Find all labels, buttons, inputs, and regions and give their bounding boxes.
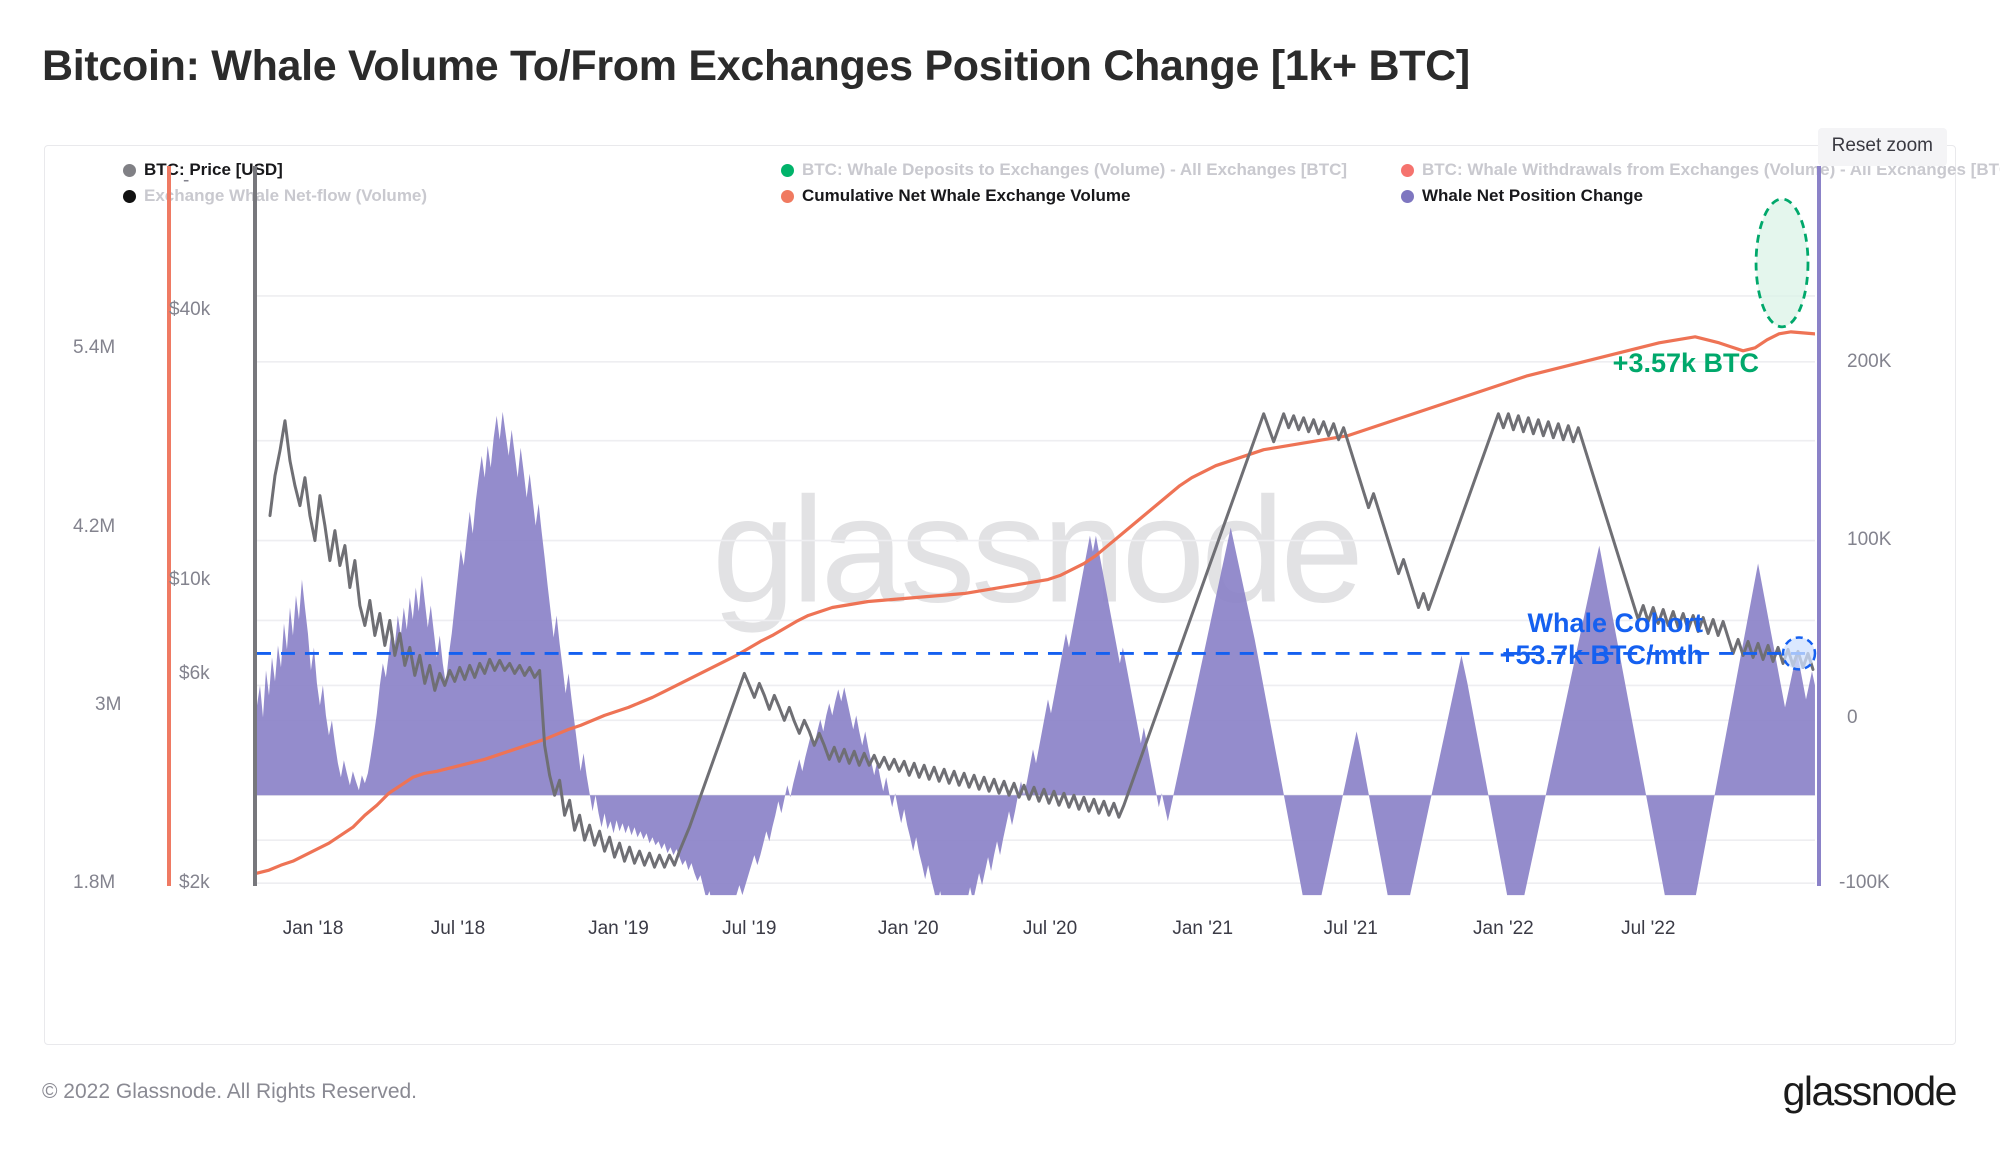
page-title: Bitcoin: Whale Volume To/From Exchanges …: [42, 42, 1470, 91]
reset-zoom-button[interactable]: Reset zoom: [1818, 128, 1947, 166]
y-tick-price-dash: -: [183, 170, 189, 192]
y-tick-price-10000: $10k: [169, 569, 210, 591]
y-tick-cumulative-4200000: 4.2M: [73, 516, 115, 538]
x-tick-jul-21: Jul '21: [1324, 918, 1378, 940]
legend-item-net-position-change[interactable]: Whale Net Position Change: [1401, 186, 1643, 206]
y-axis-btc-price: - $40k $10k $6k $2k: [165, 216, 257, 884]
chart-card: BTC: Price [USD] Exchange Whale Net-flow…: [44, 145, 1956, 1045]
y-tick-price-2000: $2k: [179, 872, 210, 894]
x-tick-jan-19: Jan '19: [588, 918, 649, 940]
y-tick-net-100000: 100K: [1847, 529, 1891, 551]
chart-legend: BTC: Price [USD] Exchange Whale Net-flow…: [45, 160, 1955, 210]
x-tick-jul-19: Jul '19: [722, 918, 776, 940]
legend-item-whale-deposits[interactable]: BTC: Whale Deposits to Exchanges (Volume…: [781, 160, 1347, 180]
x-axis-dates: Jan '18 Jul '18 Jan '19 Jul '19 Jan '20 …: [257, 918, 1815, 948]
x-tick-jul-20: Jul '20: [1023, 918, 1077, 940]
annotation-whale-cohort-line1: Whale Cohort: [1500, 608, 1703, 640]
x-tick-jan-18: Jan '18: [283, 918, 344, 940]
annotation-whale-cohort: Whale Cohort +53.7k BTC/mth: [1500, 608, 1703, 672]
legend-item-btc-price[interactable]: BTC: Price [USD]: [123, 160, 283, 180]
series-whale-net-position-change: [257, 412, 1815, 973]
legend-label-netposition: Whale Net Position Change: [1422, 186, 1643, 206]
whale-cohort-endpoint-marker: [1783, 637, 1815, 669]
y-tick-net--100000: -100K: [1839, 872, 1890, 894]
y-tick-cumulative-5400000: 5.4M: [73, 337, 115, 359]
y-tick-net-0: 0: [1847, 707, 1858, 729]
legend-color-dot-cumulative: [781, 190, 794, 203]
y-tick-cumulative-3000000: 3M: [95, 694, 121, 716]
y-tick-price-6000: $6k: [179, 663, 210, 685]
x-tick-jan-22: Jan '22: [1473, 918, 1534, 940]
x-tick-jan-21: Jan '21: [1172, 918, 1233, 940]
annotation-whale-cohort-line2: +53.7k BTC/mth: [1500, 640, 1703, 672]
whale-deposit-highlight-ellipse: [1756, 199, 1808, 327]
x-tick-jul-22: Jul '22: [1621, 918, 1675, 940]
y-axis-net-position-change: 200K 100K 0 -100K: [1815, 216, 1955, 884]
y-tick-net-200000: 200K: [1847, 351, 1891, 373]
legend-color-dot-deposits: [781, 164, 794, 177]
annotation-whale-deposit-line1: +3.57k BTC: [1613, 348, 1759, 380]
legend-item-cumulative-net[interactable]: Cumulative Net Whale Exchange Volume: [781, 186, 1130, 206]
x-tick-jul-18: Jul '18: [431, 918, 485, 940]
legend-label-deposits: BTC: Whale Deposits to Exchanges (Volume…: [802, 160, 1347, 180]
legend-color-dot-price: [123, 164, 136, 177]
legend-color-dot-netposition: [1401, 190, 1414, 203]
y-axis-net-position-line: [1817, 166, 1821, 886]
legend-color-dot-netflow: [123, 190, 136, 203]
y-tick-cumulative-1800000: 1.8M: [73, 872, 115, 894]
plot-area[interactable]: glassnode: [257, 216, 1815, 884]
chart-svg: [257, 216, 1815, 885]
legend-label-cumulative: Cumulative Net Whale Exchange Volume: [802, 186, 1130, 206]
chart-page: Bitcoin: Whale Volume To/From Exchanges …: [0, 0, 2000, 1152]
footer-copyright: © 2022 Glassnode. All Rights Reserved.: [42, 1080, 417, 1104]
annotation-whale-deposit: +3.57k BTC: [1613, 348, 1759, 380]
x-tick-jan-20: Jan '20: [878, 918, 939, 940]
y-tick-price-40000: $40k: [169, 299, 210, 321]
legend-label-price: BTC: Price [USD]: [144, 160, 283, 180]
glassnode-logo: glassnode: [1783, 1068, 1956, 1115]
legend-color-dot-withdrawals: [1401, 164, 1414, 177]
